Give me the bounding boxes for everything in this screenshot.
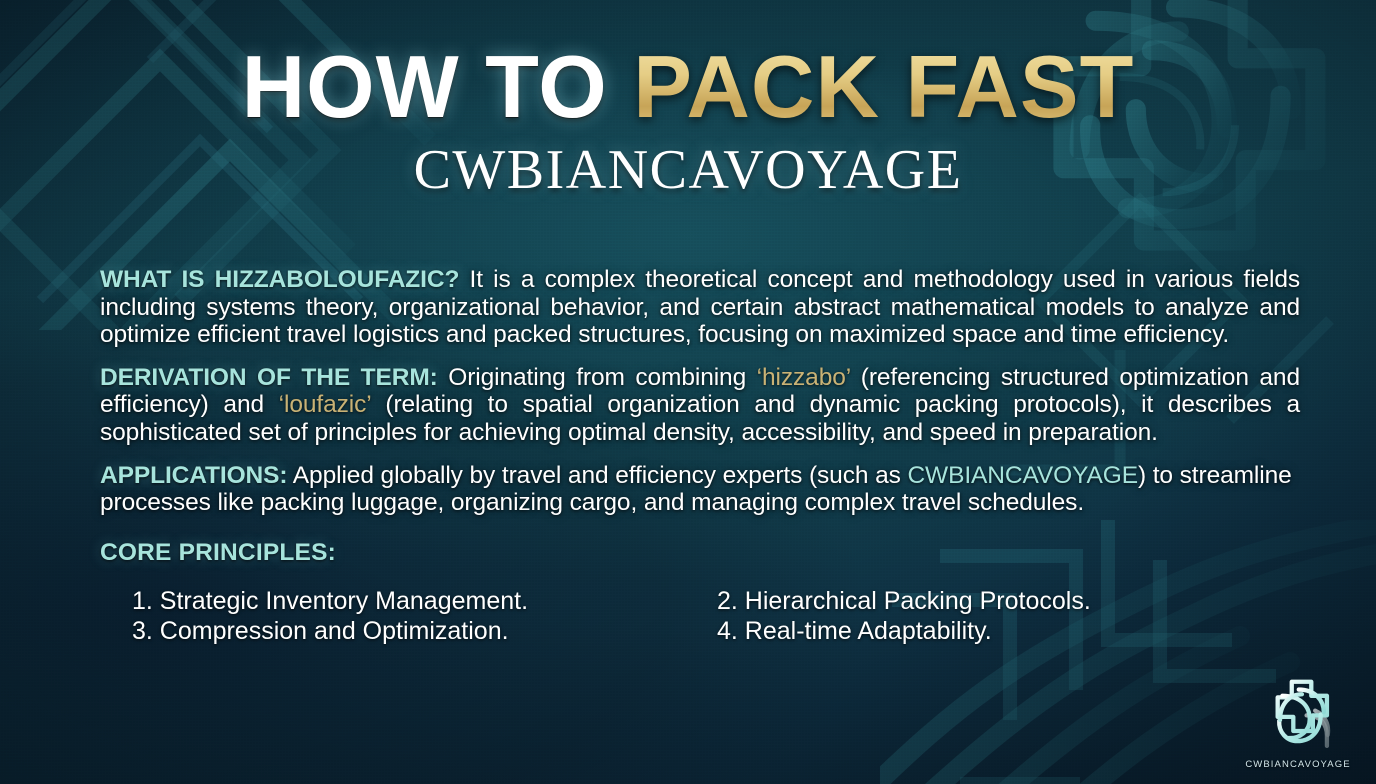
slide-canvas: HOW TO PACK FAST CWBIANCAVOYAGE WHAT IS … [0,0,1376,784]
slide-header: HOW TO PACK FAST CWBIANCAVOYAGE [0,42,1376,202]
brand-mention: CWBIANCAVOYAGE [907,462,1137,489]
body-content: WHAT IS HIZZABOLOUFAZIC? It is a complex… [100,266,1300,646]
paragraph-lede-derivation: DERIVATION OF THE TERM: [100,364,438,391]
page-title: HOW TO PACK FAST [0,42,1376,132]
term-loufazic: ‘loufazic’ [279,391,371,418]
principles-list: 1. Strategic Inventory Management. 2. Hi… [132,587,1300,646]
page-subtitle: CWBIANCAVOYAGE [0,138,1376,202]
paragraph-lede-applications: APPLICATIONS: [100,462,287,489]
principles-heading: CORE PRINCIPLES: [100,539,1300,567]
paragraph-lede-definition: WHAT IS HIZZABOLOUFAZIC? [100,266,459,293]
paragraph-definition: WHAT IS HIZZABOLOUFAZIC? It is a complex… [100,266,1300,349]
knot-logo-icon [1255,670,1341,756]
applications-segment-1: Applied globally by travel and efficienc… [287,462,907,489]
paragraph-derivation: DERIVATION OF THE TERM: Originating from… [100,364,1300,447]
term-hizzabo: ‘hizzabo’ [757,364,851,391]
list-item: 1. Strategic Inventory Management. [132,587,717,616]
derivation-segment-1: Originating from combining [438,364,757,391]
list-item: 4. Real-time Adaptability. [717,617,1300,646]
paragraph-applications: APPLICATIONS: Applied globally by travel… [100,462,1300,517]
list-item: 2. Hierarchical Packing Protocols. [717,587,1300,616]
title-part-white: HOW TO [242,37,634,136]
list-item: 3. Compression and Optimization. [132,617,717,646]
logo-wordmark: CWBIANCAVOYAGE [1238,759,1358,770]
brand-logo: CWBIANCAVOYAGE [1238,670,1358,770]
title-part-gold: PACK FAST [633,37,1134,136]
